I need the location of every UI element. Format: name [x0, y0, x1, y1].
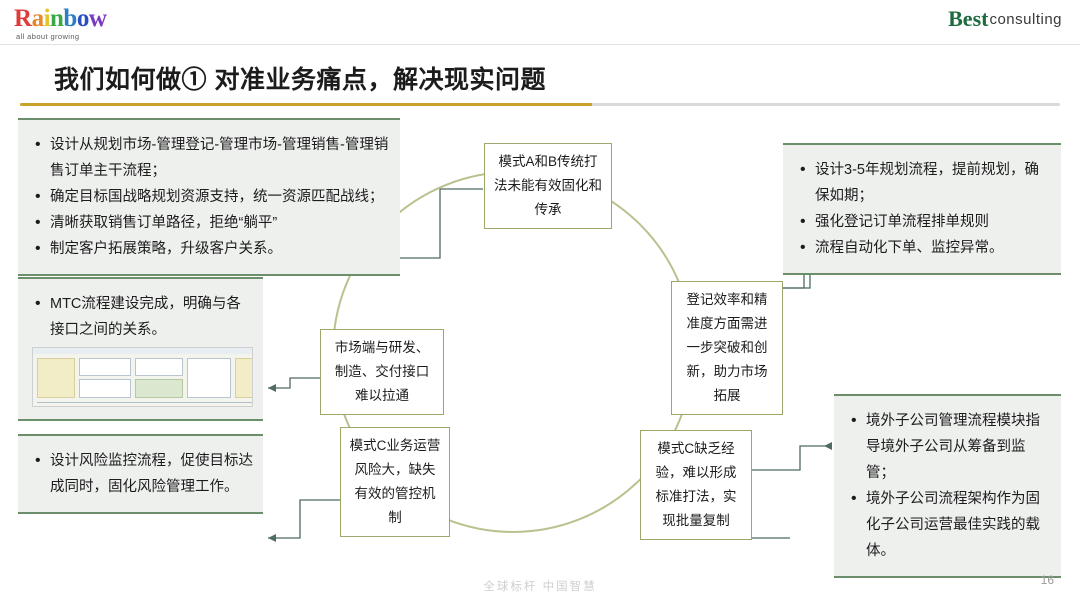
list-item: 设计从规划市场-管理登记-管理市场-管理销售-管理销售订单主干流程； [48, 132, 390, 184]
page-number: 16 [1041, 573, 1054, 587]
list-item: 境外子公司管理流程模块指导境外子公司从筹备到监管； [864, 408, 1051, 486]
logo-letter-r: R [14, 5, 32, 32]
header-divider [0, 44, 1080, 45]
card-middle-left: MTC流程建设完成，明确与各接口之间的关系。 [18, 277, 263, 421]
ring-label-a: 模式A和B传统打法未能有效固化和传承 [484, 143, 612, 229]
rainbow-logo-tagline: all about growing [14, 32, 154, 41]
list-item: 确定目标国战略规划资源支持，统一资源匹配战线； [48, 184, 390, 210]
list-item: 流程自动化下单、监控异常。 [813, 235, 1051, 261]
logo-letter-o: o [77, 5, 89, 32]
ring-label-c: 模式C缺乏经验，难以形成标准打法，实现批量复制 [640, 430, 752, 540]
list-item: 设计3-5年规划流程，提前规划，确保如期； [813, 157, 1051, 209]
title-underline [20, 103, 1060, 106]
logo-letter-b: b [63, 5, 76, 32]
ring-label-e: 市场端与研发、制造、交付接口难以拉通 [320, 329, 444, 415]
list-item: 设计风险监控流程，促使目标达成同时，固化风险管理工作。 [48, 448, 253, 500]
ring-label-d: 模式C业务运营风险大，缺失有效的管控机制 [340, 427, 450, 537]
list-item: 境外子公司流程架构作为固化子公司运营最佳实践的载体。 [864, 486, 1051, 564]
best-consulting-brand: Best [948, 8, 988, 30]
logo-letter-n: n [50, 5, 63, 32]
list-item: 制定客户拓展策略，升级客户关系。 [48, 236, 390, 262]
footer-slogan: 全球标杆 中国智慧 [0, 578, 1080, 594]
process-map-thumbnail [32, 347, 253, 407]
page-title: 我们如何做① 对准业务痛点，解决现实问题 [54, 60, 546, 96]
card-bottom-right: 境外子公司管理流程模块指导境外子公司从筹备到监管； 境外子公司流程架构作为固化子… [834, 394, 1061, 578]
logo-letter-w: w [89, 5, 107, 32]
card-top-left: 设计从规划市场-管理登记-管理市场-管理销售-管理销售订单主干流程； 确定目标国… [18, 118, 400, 276]
list-item: 强化登记订单流程排单规则 [813, 209, 1051, 235]
best-consulting-logo: Bestconsulting [948, 8, 1062, 30]
rainbow-logo-wordmark: Rainbow [14, 6, 154, 31]
list-item: MTC流程建设完成，明确与各接口之间的关系。 [48, 291, 253, 343]
ring-label-b: 登记效率和精准度方面需进一步突破和创新，助力市场拓展 [671, 281, 783, 415]
best-consulting-sub: consulting [989, 11, 1062, 28]
rainbow-logo: Rainbow all about growing [14, 6, 154, 40]
list-item: 清晰获取销售订单路径，拒绝“躺平” [48, 210, 390, 236]
logo-letter-a: a [32, 5, 44, 32]
card-top-right: 设计3-5年规划流程，提前规划，确保如期； 强化登记订单流程排单规则 流程自动化… [783, 143, 1061, 275]
card-bottom-left: 设计风险监控流程，促使目标达成同时，固化风险管理工作。 [18, 434, 263, 514]
